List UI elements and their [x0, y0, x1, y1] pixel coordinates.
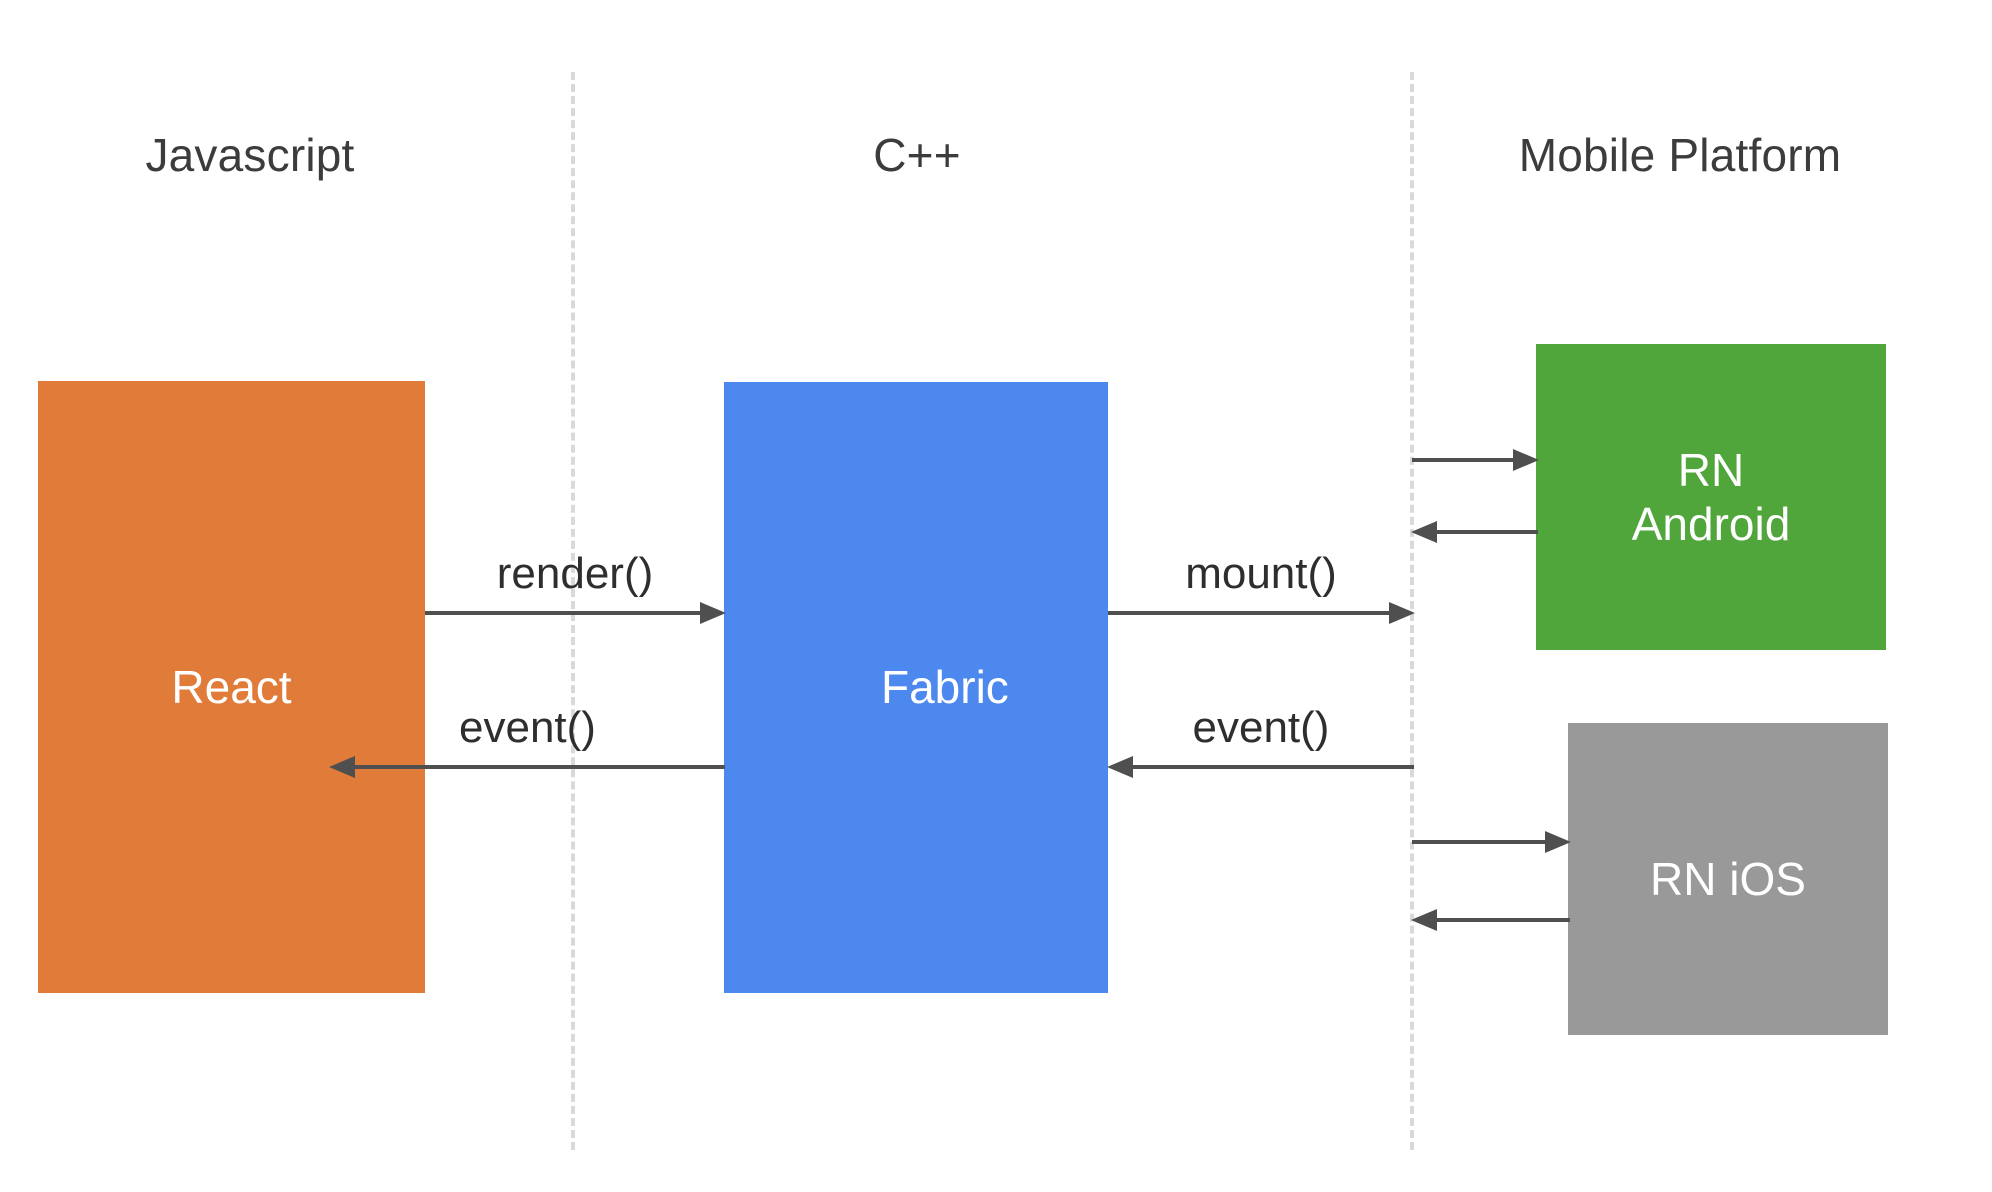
arrow-label-event-native: event()	[1108, 703, 1414, 753]
node-react-label: React	[171, 660, 291, 714]
arrow-event-native-head-icon	[1107, 756, 1133, 778]
arrow-android-out-shaft	[1428, 530, 1538, 534]
column-divider-cpp-mobile	[1410, 72, 1414, 1150]
node-rn-android-label-line2: Android	[1632, 498, 1791, 550]
node-rn-ios-label: RN iOS	[1650, 852, 1806, 906]
arrow-android-out	[1412, 519, 1538, 543]
arrow-ios-in	[1412, 829, 1570, 853]
arrow-event-native	[1108, 754, 1414, 778]
node-rn-ios[interactable]: RN iOS	[1568, 723, 1888, 1035]
node-rn-android-label: RN Android	[1632, 443, 1791, 552]
arrow-ios-out	[1412, 907, 1570, 931]
column-header-javascript: Javascript	[0, 128, 500, 182]
arrow-label-render: render()	[425, 549, 725, 599]
node-rn-android-label-line1: RN	[1678, 444, 1744, 496]
arrow-ios-in-shaft	[1412, 840, 1554, 844]
node-fabric-label: Fabric	[881, 660, 1009, 714]
arrow-label-event-js: event()	[330, 703, 725, 753]
arrow-android-out-head-icon	[1411, 521, 1437, 543]
arrow-mount-shaft	[1108, 611, 1398, 615]
diagram-canvas: Javascript C++ Mobile Platform React Fab…	[0, 0, 1992, 1192]
arrow-android-in	[1412, 447, 1538, 471]
arrow-mount	[1108, 600, 1414, 624]
arrow-render-shaft	[425, 611, 709, 615]
arrow-render	[425, 600, 725, 624]
column-header-cpp: C++	[725, 128, 1109, 182]
column-header-mobile-platform: Mobile Platform	[1420, 128, 1940, 182]
arrow-event-native-shaft	[1124, 765, 1414, 769]
arrow-android-in-shaft	[1412, 458, 1522, 462]
node-react[interactable]: React	[38, 381, 425, 993]
column-divider-javascript-cpp	[571, 72, 575, 1150]
node-rn-android[interactable]: RN Android	[1536, 344, 1886, 650]
arrow-render-head-icon	[700, 602, 726, 624]
arrow-ios-out-shaft	[1428, 918, 1570, 922]
arrow-label-mount: mount()	[1108, 549, 1414, 599]
node-fabric[interactable]: Fabric	[724, 382, 1108, 993]
arrow-ios-out-head-icon	[1411, 909, 1437, 931]
